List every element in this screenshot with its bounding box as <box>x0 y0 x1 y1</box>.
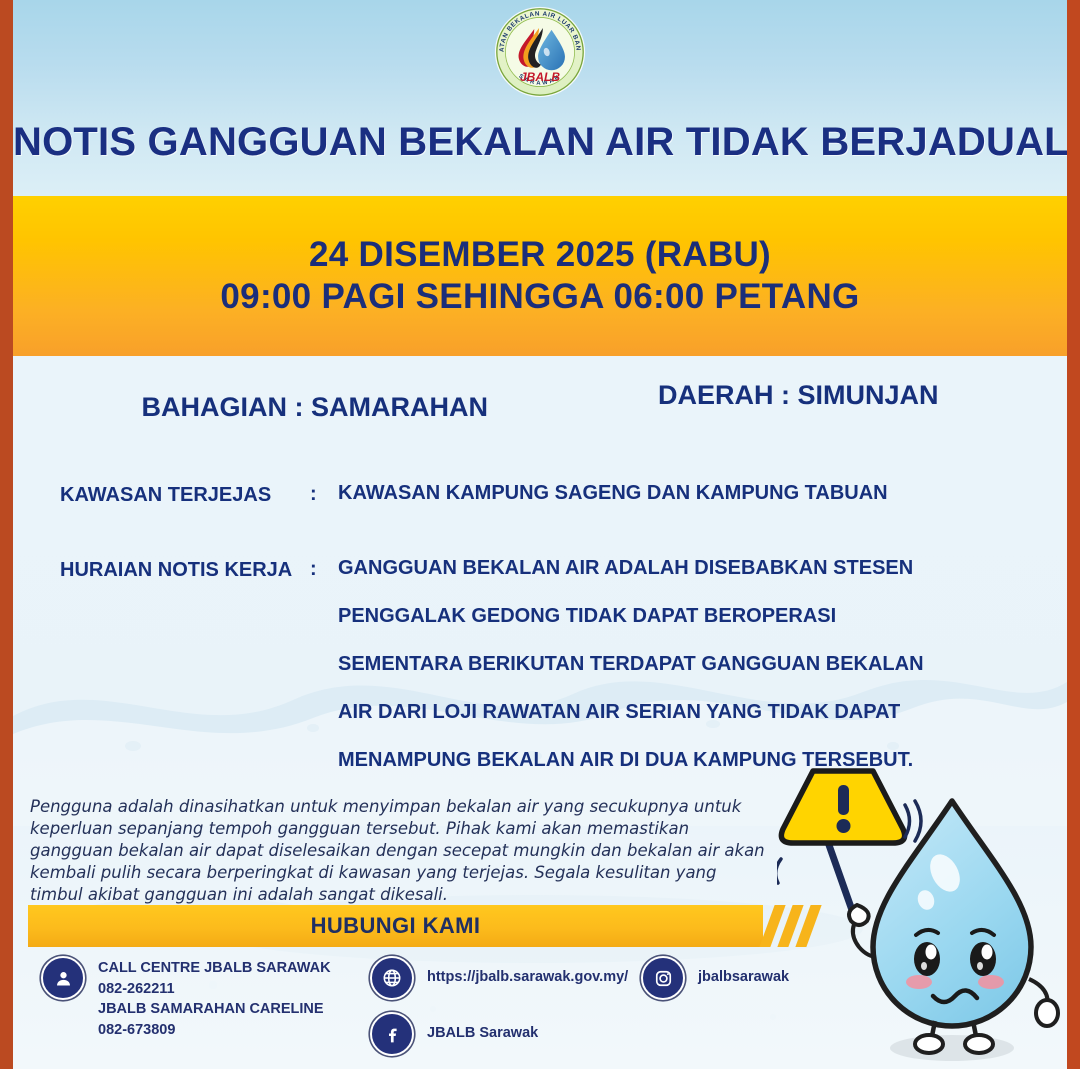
poster-body: BAHAGIAN : SAMARAHAN DAERAH : SIMUNJAN K… <box>13 356 1067 1069</box>
notice-poster: JABATAN BEKALAN AIR LUAR BANDAR SARAWAK … <box>0 0 1080 1069</box>
contact-call-centre-text: CALL CENTRE JBALB SARAWAK 082-262211 JBA… <box>98 956 331 1040</box>
notice-date: 24 DISEMBER 2025 (RABU) <box>309 235 771 275</box>
contact-call-centre[interactable]: CALL CENTRE JBALB SARAWAK 082-262211 JBA… <box>41 956 331 1040</box>
field-value: KAWASAN KAMPUNG SAGENG DAN KAMPUNG TABUA… <box>338 483 888 503</box>
advisory-note: Pengguna adalah dinasihatkan untuk menyi… <box>30 796 765 907</box>
date-time-band: 24 DISEMBER 2025 (RABU) 09:00 PAGI SEHIN… <box>13 196 1067 356</box>
field-kawasan-terjejas: KAWASAN TERJEJAS : KAWASAN KAMPUNG SAGEN… <box>60 483 1007 507</box>
contact-instagram[interactable]: jbalbsarawak <box>641 956 789 1000</box>
contact-facebook[interactable]: JBALB Sarawak <box>370 1012 538 1056</box>
bahagian-label: BAHAGIAN : SAMARAHAN <box>142 392 488 423</box>
careline-name: JBALB SAMARAHAN CARELINE <box>98 999 331 1020</box>
field-colon: : <box>310 483 338 506</box>
globe-icon <box>370 956 414 1000</box>
daerah-label: DAERAH : SIMUNJAN <box>658 380 939 423</box>
field-value-line: PENGGALAK GEDONG TIDAK DAPAT BEROPERASI <box>338 606 924 626</box>
field-label: HURAIAN NOTIS KERJA <box>60 558 310 582</box>
call-centre-name: CALL CENTRE JBALB SARAWAK <box>98 958 331 979</box>
jbalb-logo: JABATAN BEKALAN AIR LUAR BANDAR SARAWAK … <box>492 4 588 100</box>
bar-stripes-decoration <box>765 905 825 947</box>
facebook-handle[interactable]: JBALB Sarawak <box>427 1012 538 1044</box>
field-value-line: AIR DARI LOJI RAWATAN AIR SERIAN YANG TI… <box>338 702 924 722</box>
contact-bar-title: HUBUNGI KAMI <box>28 905 763 947</box>
contact-website[interactable]: https://jbalb.sarawak.gov.my/ <box>370 956 628 1000</box>
facebook-icon <box>370 1012 414 1056</box>
field-value-line: GANGGUAN BEKALAN AIR ADALAH DISEBABKAN S… <box>338 558 924 578</box>
svg-text:JBALB: JBALB <box>520 70 560 84</box>
page-title: NOTIS GANGGUAN BEKALAN AIR TIDAK BERJADU… <box>13 120 1067 165</box>
call-centre-phone: 082-262211 <box>98 979 331 1000</box>
notice-time: 09:00 PAGI SEHINGGA 06:00 PETANG <box>220 277 859 317</box>
website-url[interactable]: https://jbalb.sarawak.gov.my/ <box>427 956 628 988</box>
field-colon: : <box>310 558 338 581</box>
contacts-section: CALL CENTRE JBALB SARAWAK 082-262211 JBA… <box>13 956 1067 1066</box>
field-value: GANGGUAN BEKALAN AIR ADALAH DISEBABKAN S… <box>338 558 924 770</box>
field-value-line: KAWASAN KAMPUNG SAGENG DAN KAMPUNG TABUA… <box>338 483 888 503</box>
instagram-icon <box>641 956 685 1000</box>
person-icon <box>41 956 85 1000</box>
field-huraian-notis-kerja: HURAIAN NOTIS KERJA : GANGGUAN BEKALAN A… <box>60 558 1007 770</box>
poster-header: JABATAN BEKALAN AIR LUAR BANDAR SARAWAK … <box>13 0 1067 196</box>
field-label: KAWASAN TERJEJAS <box>60 483 310 507</box>
region-row: BAHAGIAN : SAMARAHAN DAERAH : SIMUNJAN <box>13 392 1067 423</box>
field-value-line: MENAMPUNG BEKALAN AIR DI DUA KAMPUNG TER… <box>338 750 924 770</box>
instagram-handle[interactable]: jbalbsarawak <box>698 956 789 988</box>
careline-phone: 082-673809 <box>98 1020 331 1041</box>
field-value-line: SEMENTARA BERIKUTAN TERDAPAT GANGGUAN BE… <box>338 654 924 674</box>
warning-triangle-exclamation <box>777 771 921 913</box>
